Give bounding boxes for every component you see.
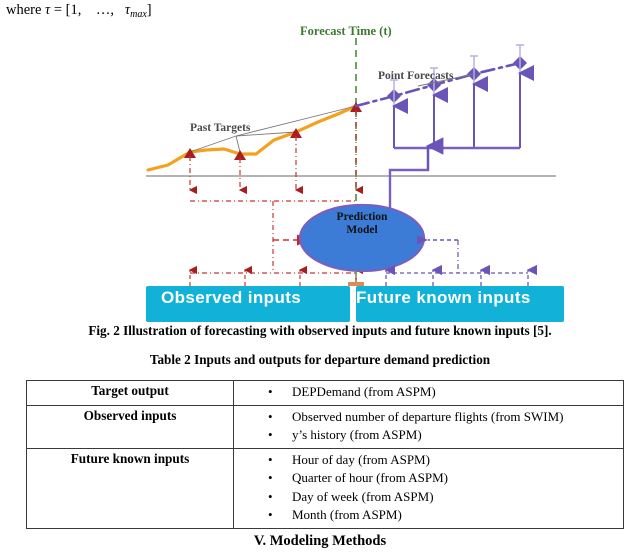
future-known-inputs-box-label: Future known inputs — [356, 288, 531, 308]
row-values: Observed number of departure flights (fr… — [234, 405, 624, 448]
list-item: Quarter of hour (from ASPM) — [234, 469, 619, 488]
inputs-outputs-table: Target output DEPDemand (from ASPM) Obse… — [26, 380, 624, 529]
table-caption: Table 2 Inputs and outputs for departure… — [0, 352, 640, 368]
prediction-model-line1: Prediction — [306, 211, 418, 224]
figure-canvas — [128, 18, 568, 323]
list-item: y’s history (from ASPM) — [234, 426, 619, 445]
formula-equals: = [1, — [50, 2, 81, 18]
row-values: DEPDemand (from ASPM) — [234, 381, 624, 406]
table-body: Target output DEPDemand (from ASPM) Obse… — [27, 381, 624, 529]
divider-foot — [348, 282, 364, 286]
prediction-model-label: Prediction Model — [306, 211, 418, 237]
list-item: Observed number of departure flights (fr… — [234, 408, 619, 427]
point-forecasts-label: Point Forecasts — [378, 70, 453, 82]
list-item: Month (from ASPM) — [234, 506, 619, 525]
document-page: where τ = [1, …, τmax] — [0, 0, 640, 554]
formula-prefix: where — [6, 2, 45, 18]
list-item: Day of week (from ASPM) — [234, 488, 619, 507]
bullet-list: Hour of day (from ASPM) Quarter of hour … — [234, 451, 619, 525]
formula-close: ] — [147, 2, 152, 18]
bullet-list: Observed number of departure flights (fr… — [234, 408, 619, 445]
formula-ellipsis: …, — [96, 2, 114, 18]
list-item: Hour of day (from ASPM) — [234, 451, 619, 470]
row-values: Hour of day (from ASPM) Quarter of hour … — [234, 448, 624, 528]
prediction-model-line2: Model — [306, 224, 418, 237]
table-row: Future known inputs Hour of day (from AS… — [27, 448, 624, 528]
row-label: Future known inputs — [27, 448, 234, 528]
row-label: Target output — [27, 381, 234, 406]
forecast-time-label: Forecast Time (t) — [300, 24, 392, 39]
past-targets-label: Past Targets — [190, 122, 250, 134]
table-row: Observed inputs Observed number of depar… — [27, 405, 624, 448]
table-row: Target output DEPDemand (from ASPM) — [27, 381, 624, 406]
row-label: Observed inputs — [27, 405, 234, 448]
figure-caption: Fig. 2 Illustration of forecasting with … — [0, 323, 640, 339]
observed-inputs-box-label: Observed inputs — [161, 288, 301, 308]
section-heading: V. Modeling Methods — [0, 533, 640, 550]
figure-forecasting-illustration: Forecast Time (t) Past Targets Point For… — [128, 18, 568, 323]
list-item: DEPDemand (from ASPM) — [234, 383, 619, 402]
bullet-list: DEPDemand (from ASPM) — [234, 383, 619, 402]
